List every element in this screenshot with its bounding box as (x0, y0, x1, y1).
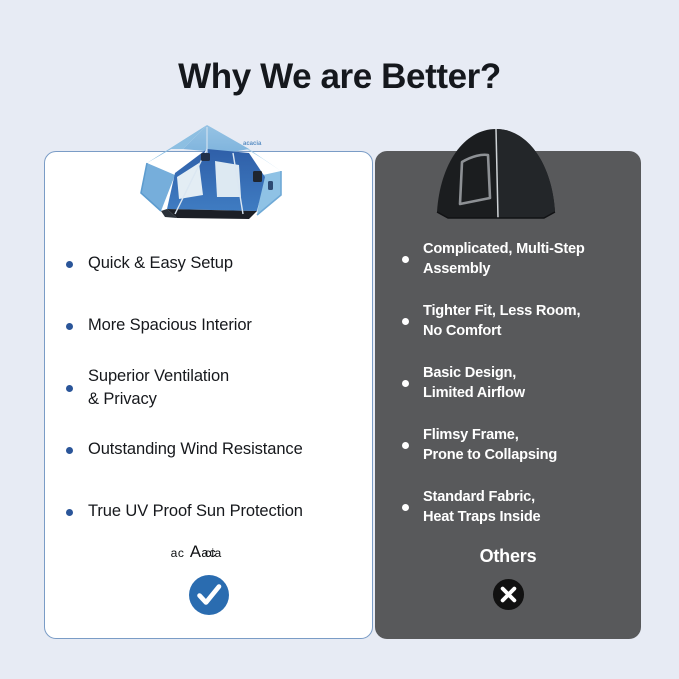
list-item: Outstanding Wind Resistance (44, 419, 373, 481)
list-item-label: True UV Proof Sun Protection (88, 500, 303, 523)
bullet-icon (66, 447, 73, 454)
others-label: Others (375, 546, 641, 567)
comparison-infographic: Why We are Better? (0, 0, 679, 679)
page-title: Why We are Better? (0, 57, 679, 97)
bullet-icon (402, 442, 409, 449)
list-item-label: Superior Ventilation& Privacy (88, 365, 229, 412)
list-item: More Spacious Interior (44, 295, 373, 357)
svg-text:A: A (189, 542, 201, 561)
list-item: Standard Fabric,Heat Traps Inside (375, 476, 641, 538)
list-item-label: Standard Fabric,Heat Traps Inside (423, 487, 540, 527)
list-item: Quick & Easy Setup (44, 233, 373, 295)
list-item: True UV Proof Sun Protection (44, 481, 373, 543)
bullet-icon (66, 509, 73, 516)
list-item: Tighter Fit, Less Room,No Comfort (375, 290, 641, 352)
bullet-icon (402, 380, 409, 387)
svg-text:ac: ac (170, 546, 184, 560)
bullet-icon (402, 504, 409, 511)
black-dome-tent-image (432, 126, 560, 226)
brand-footer: ac acAcia ac A cia (44, 540, 373, 621)
check-circle-icon (188, 574, 230, 616)
list-item: Complicated, Multi-StepAssembly (375, 228, 641, 290)
bullet-icon (66, 261, 73, 268)
list-item: Basic Design,Limited Airflow (375, 352, 641, 414)
list-item-label: Flimsy Frame,Prone to Collapsing (423, 425, 557, 465)
list-item-label: More Spacious Interior (88, 314, 252, 337)
list-item: Flimsy Frame,Prone to Collapsing (375, 414, 641, 476)
bullet-icon (66, 385, 73, 392)
cons-list: Complicated, Multi-StepAssembly Tighter … (375, 228, 641, 538)
blue-hexagon-beach-tent-image: acacia (131, 119, 289, 227)
list-item-label: Tighter Fit, Less Room,No Comfort (423, 301, 580, 341)
svg-text:cia: cia (204, 546, 221, 560)
list-item-label: Basic Design,Limited Airflow (423, 363, 525, 403)
bullet-icon (66, 323, 73, 330)
list-item-label: Quick & Easy Setup (88, 252, 233, 275)
others-footer: Others (375, 546, 641, 616)
acacia-logo: ac acAcia ac A cia (159, 540, 259, 562)
x-circle-icon (492, 578, 525, 611)
bullet-icon (402, 318, 409, 325)
bullet-icon (402, 256, 409, 263)
list-item-label: Outstanding Wind Resistance (88, 438, 303, 461)
pros-list: Quick & Easy Setup More Spacious Interio… (44, 233, 373, 543)
list-item: Superior Ventilation& Privacy (44, 357, 373, 419)
list-item-label: Complicated, Multi-StepAssembly (423, 239, 585, 279)
svg-text:acacia: acacia (243, 141, 262, 147)
